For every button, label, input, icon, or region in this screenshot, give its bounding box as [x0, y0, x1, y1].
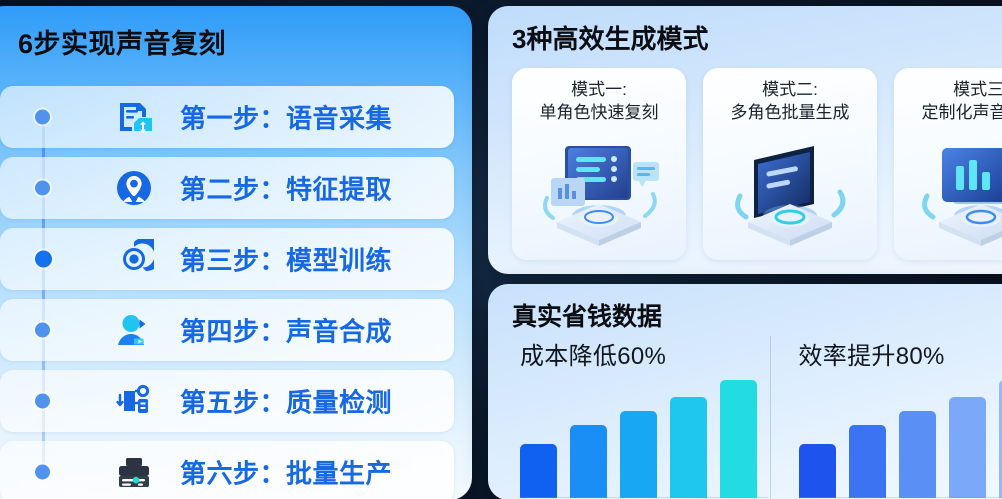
step-label-1: 第一步：语音采集 — [180, 99, 392, 136]
mode-card-line2-1: 单角色快速复刻 — [512, 101, 686, 124]
steps-panel-title: 6步实现声音复刻 — [18, 22, 226, 61]
mode-card-title-3: 模式三: 定制化声音优化 — [894, 78, 1002, 125]
mode-card-line2-3: 定制化声音优化 — [894, 101, 1002, 124]
bar-group-cost — [520, 380, 757, 498]
chart-caption-cost: 成本降低60% — [520, 336, 770, 371]
bar-eff-2 — [849, 425, 886, 498]
chart-baseline-cost — [520, 497, 768, 498]
mode-card-1[interactable]: 模式一: 单角色快速复刻 — [512, 68, 686, 260]
mode-card-3[interactable]: 模式三: 定制化声音优化 — [894, 68, 1002, 260]
modes-panel: 3种高效生成模式 模式一: 单角色快速复刻 — [488, 6, 1002, 274]
step-item-6[interactable]: 第六步：批量生产 — [0, 441, 454, 499]
chart-caption-efficiency: 效率提升80% — [799, 336, 1002, 371]
step-item-2[interactable]: 第二步：特征提取 — [0, 157, 454, 219]
mode-card-2[interactable]: 模式二: 多角色批量生成 — [703, 68, 877, 260]
step-label-2: 第二步：特征提取 — [180, 170, 392, 207]
mode-card-title-1: 模式一: 单角色快速复刻 — [512, 78, 686, 125]
printer-icon — [112, 450, 156, 494]
mode-card-line1-1: 模式一: — [512, 78, 686, 101]
step-item-1[interactable]: 第一步：语音采集 — [0, 86, 454, 148]
stats-panel: 真实省钱数据 成本降低60% 效率提升80% — [488, 284, 1002, 499]
step-label-3: 第三步：模型训练 — [180, 241, 392, 278]
timeline-dot-2 — [35, 181, 50, 196]
step-label-4: 第四步：声音合成 — [180, 312, 392, 349]
bar-eff-3 — [899, 411, 936, 498]
bar-eff-5 — [999, 380, 1002, 498]
isometric-monitor-lines-icon — [720, 138, 860, 250]
target-circle-icon — [112, 237, 156, 281]
mode-card-line1-2: 模式二: — [703, 78, 877, 101]
timeline-dot-5 — [35, 394, 50, 409]
timeline-dot-3 — [35, 251, 52, 268]
steps-list: 第一步：语音采集 第二步：特征提取 — [0, 86, 454, 499]
mode-card-line2-2: 多角色批量生成 — [703, 101, 877, 124]
bar-group-efficiency — [799, 380, 1002, 498]
timeline-dot-1 — [35, 110, 50, 125]
chart-efficiency-gain: 效率提升80% — [770, 336, 1002, 499]
quality-node-icon — [112, 379, 156, 423]
bar-cost-3 — [620, 411, 657, 498]
timeline-dot-4 — [35, 323, 50, 338]
isometric-monitor-bars-icon — [911, 138, 1002, 250]
user-voice-icon — [112, 308, 156, 352]
step-item-5[interactable]: 第五步：质量检测 — [0, 370, 454, 432]
bar-eff-4 — [949, 397, 986, 498]
bar-cost-2 — [570, 425, 607, 498]
infographic-canvas: 6步实现声音复刻 第一步：语音采集 — [0, 0, 1002, 499]
document-sync-icon — [112, 95, 156, 139]
step-item-3[interactable]: 第三步：模型训练 — [0, 228, 454, 290]
modes-panel-title: 3种高效生成模式 — [512, 19, 708, 56]
bar-cost-4 — [670, 397, 707, 498]
step-item-4[interactable]: 第四步：声音合成 — [0, 299, 454, 361]
bar-eff-1 — [799, 444, 836, 498]
mode-card-title-2: 模式二: 多角色批量生成 — [703, 78, 877, 125]
isometric-monitor-chat-icon — [529, 138, 669, 250]
bar-cost-1 — [520, 444, 557, 498]
steps-panel: 6步实现声音复刻 第一步：语音采集 — [0, 6, 472, 499]
mode-card-list: 模式一: 单角色快速复刻 — [512, 68, 1002, 260]
bar-cost-5 — [720, 380, 757, 498]
chart-baseline-efficiency — [799, 497, 1002, 498]
step-label-6: 第六步：批量生产 — [180, 454, 392, 491]
charts-container: 成本降低60% 效率提升80% — [508, 336, 1002, 499]
stats-panel-title: 真实省钱数据 — [512, 297, 662, 333]
chart-cost-reduction: 成本降低60% — [508, 336, 770, 499]
person-location-pin-icon — [112, 166, 156, 210]
step-label-5: 第五步：质量检测 — [180, 383, 392, 420]
mode-card-line1-3: 模式三: — [894, 78, 1002, 101]
timeline-dot-6 — [35, 465, 50, 480]
